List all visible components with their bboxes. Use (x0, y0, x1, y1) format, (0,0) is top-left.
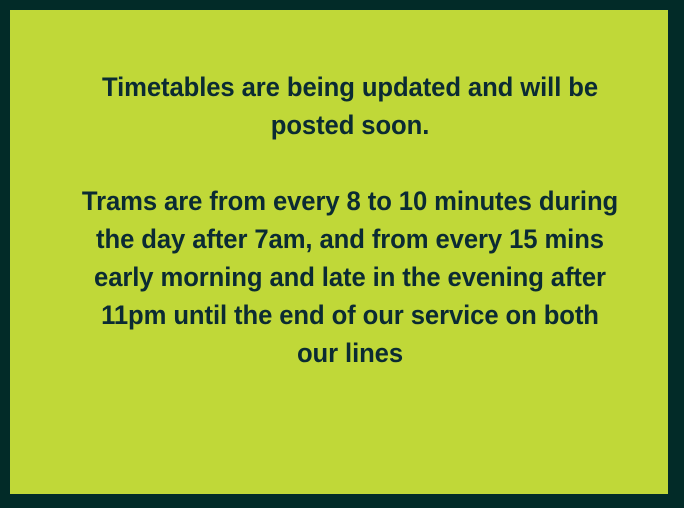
notice-frame: Timetables are being updated and will be… (0, 0, 684, 508)
notice-text-block: Timetables are being updated and will be… (81, 68, 619, 372)
tram-frequency-notice: Trams are from every 8 to 10 minutes dur… (81, 182, 619, 372)
notice-panel: Timetables are being updated and will be… (10, 10, 668, 494)
timetable-update-notice: Timetables are being updated and will be… (81, 68, 619, 144)
paragraph-gap (81, 144, 619, 182)
